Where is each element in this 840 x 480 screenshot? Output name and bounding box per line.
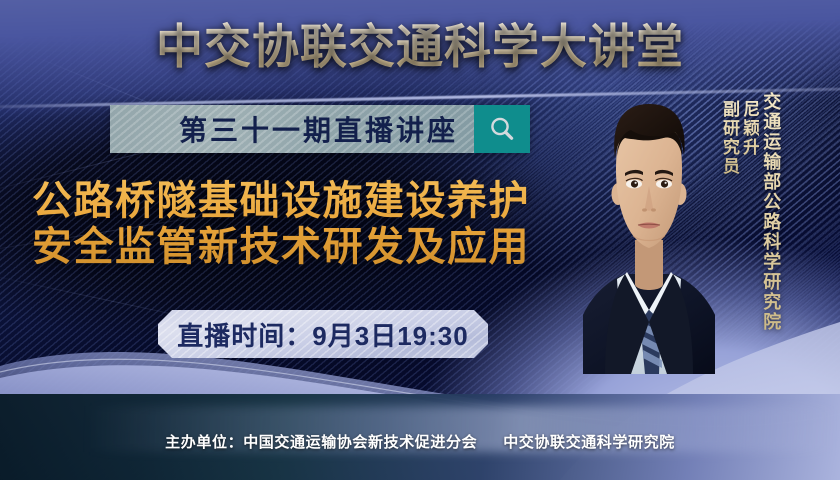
organizer-prefix: 主办单位： xyxy=(165,434,243,451)
broadcast-time-badge: 直播时间：9月3日19:30 xyxy=(158,310,488,358)
episode-banner: 第三十一期直播讲座 xyxy=(110,105,530,153)
organizer-footer: 主办单位：中国交通运输协会新技术促进分会中交协联交通科学研究院 xyxy=(0,431,840,452)
live-stream-poster: 中交协联交通科学大讲堂 第三十一期直播讲座 公路桥隧基础设施建设养护 安全监管新… xyxy=(0,0,840,480)
speaker-portrait xyxy=(583,78,715,374)
organizer-name-1: 中国交通运输协会新技术促进分会 xyxy=(243,434,477,451)
speaker-organization: 交通运输部公路科学研究院 xyxy=(760,92,781,332)
page-title: 中交协联交通科学大讲堂 xyxy=(0,18,840,76)
speaker-name-text: 尼颖升 xyxy=(740,100,759,157)
search-icon xyxy=(474,105,530,153)
episode-banner-label: 第三十一期直播讲座 xyxy=(179,109,474,149)
speaker-title-text: 副研究员 xyxy=(720,100,739,176)
episode-banner-body: 第三十一期直播讲座 xyxy=(110,105,474,153)
lecture-headline-line-1: 公路桥隧基础设施建设养护 xyxy=(32,178,530,224)
lecture-headline: 公路桥隧基础设施建设养护 安全监管新技术研发及应用 xyxy=(32,178,530,270)
speaker-name-and-title: 尼颖升副研究员 xyxy=(719,100,759,176)
lecture-headline-line-2: 安全监管新技术研发及应用 xyxy=(32,224,530,270)
organizer-name-2: 中交协联交通科学研究院 xyxy=(503,434,675,451)
broadcast-time-text: 直播时间：9月3日19:30 xyxy=(177,316,468,353)
